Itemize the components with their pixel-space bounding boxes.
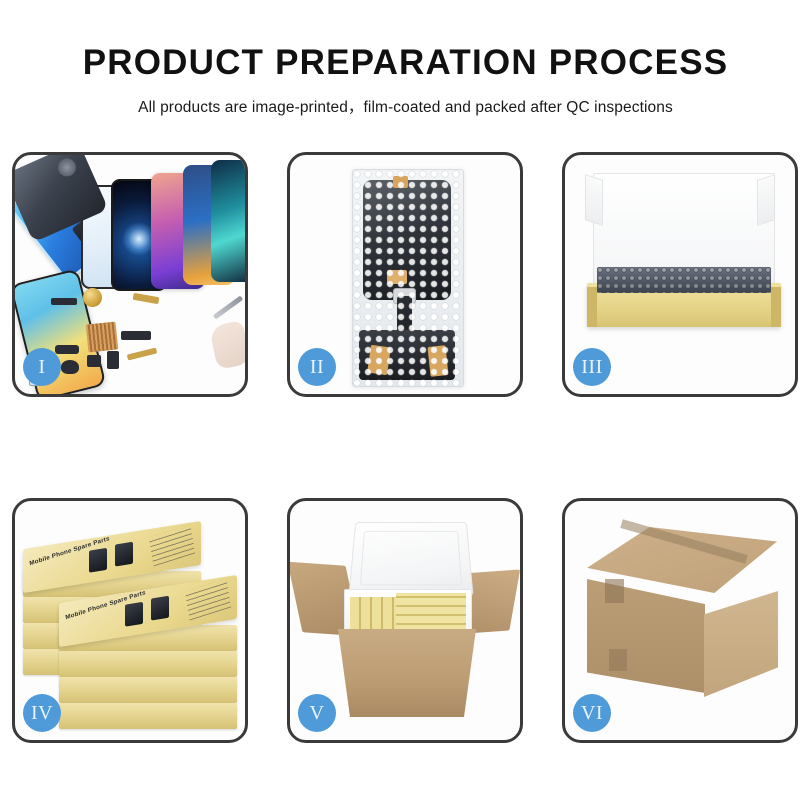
step-badge-2: II bbox=[298, 348, 336, 386]
box-art-chip-b1 bbox=[125, 602, 143, 627]
carton-tape-patch-upper bbox=[605, 579, 624, 603]
box-flap-right bbox=[757, 174, 775, 226]
small-part-a bbox=[55, 345, 79, 354]
tray-edge-right bbox=[771, 287, 781, 327]
product-preparation-infographic: PRODUCT PREPARATION PROCESS All products… bbox=[0, 0, 811, 811]
tape-top bbox=[393, 176, 408, 188]
retail-box-front-4 bbox=[59, 677, 237, 703]
tray-edge-left bbox=[587, 287, 597, 327]
page-title: PRODUCT PREPARATION PROCESS bbox=[0, 44, 811, 83]
hand-holding-part bbox=[209, 320, 245, 370]
retail-box-stack: Mobile Phone Spare Parts Mobile Phone Sp… bbox=[21, 529, 245, 721]
flex-cable-b bbox=[127, 347, 158, 360]
tape-bottom-right bbox=[427, 345, 448, 377]
step-panel-4: Mobile Phone Spare Parts Mobile Phone Sp… bbox=[12, 498, 248, 743]
step-panel-3: III bbox=[562, 152, 798, 397]
phone-screen-teal bbox=[211, 160, 245, 282]
step-panel-2: II bbox=[287, 152, 523, 397]
carton-tape-patch-lower bbox=[609, 649, 627, 671]
flex-cable-a bbox=[133, 293, 160, 304]
step-badge-6: VI bbox=[573, 694, 611, 732]
step-panel-1: I bbox=[12, 152, 248, 397]
tape-middle bbox=[387, 270, 407, 284]
speaker-part bbox=[61, 360, 79, 374]
process-step-grid: I II bbox=[12, 152, 799, 743]
header: PRODUCT PREPARATION PROCESS All products… bbox=[0, 0, 811, 117]
box-art-chip-b2 bbox=[151, 596, 169, 621]
tape-bottom-left bbox=[367, 345, 391, 376]
screwdriver-icon bbox=[213, 295, 243, 319]
step-panel-6: VI bbox=[562, 498, 798, 743]
connector-strip bbox=[51, 298, 77, 305]
box-art-text-lines-front bbox=[185, 578, 231, 620]
small-part-c bbox=[87, 355, 101, 367]
foam-lid-open bbox=[348, 522, 473, 596]
camera-module bbox=[107, 351, 119, 369]
copper-mesh-component bbox=[86, 322, 119, 353]
bubble-wrapped-contents bbox=[597, 267, 771, 293]
box-flap-left bbox=[585, 174, 603, 226]
lcd-screen-body bbox=[363, 180, 451, 300]
carton-side-face bbox=[704, 591, 778, 697]
step-badge-5: V bbox=[298, 694, 336, 732]
step-panel-5: V bbox=[287, 498, 523, 743]
box-art-chip-a1 bbox=[89, 548, 107, 573]
step-badge-1: I bbox=[23, 348, 61, 386]
carton-body bbox=[332, 629, 482, 717]
page-subtitle: All products are image-printed，film-coat… bbox=[0, 95, 811, 117]
box-art-text-lines-rear bbox=[149, 524, 195, 566]
retail-box-front-5 bbox=[59, 703, 237, 729]
box-art-chip-a2 bbox=[115, 542, 133, 567]
step-badge-3: III bbox=[573, 348, 611, 386]
retail-box-front-3 bbox=[59, 651, 237, 677]
ribbon-connector bbox=[121, 331, 151, 340]
coin-component-icon bbox=[83, 288, 102, 307]
bubble-wrap-bag bbox=[352, 169, 464, 387]
gold-box-tray bbox=[587, 283, 781, 327]
step-badge-4: IV bbox=[23, 694, 61, 732]
